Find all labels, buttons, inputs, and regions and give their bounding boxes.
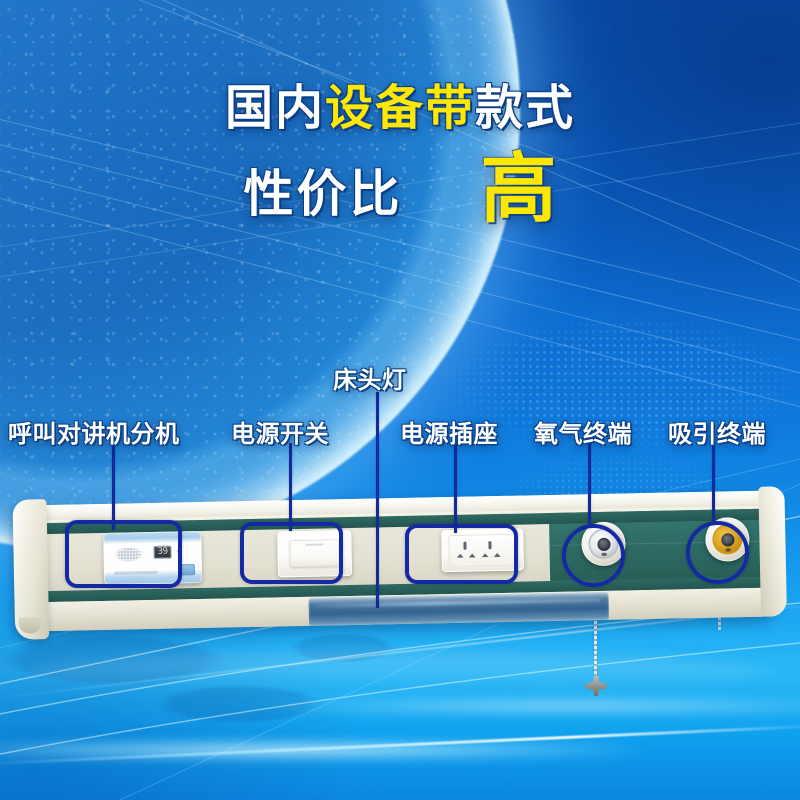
headline-seg-yellow: 设备带	[325, 82, 475, 135]
headline-seg-white-1: 国内	[225, 82, 325, 135]
leader-line-suction-terminal	[712, 443, 715, 525]
promo-banner: 国内设备带款式 性价比 高 呼叫对讲机分机 电源开关 床头灯 电源插座 氧气终端…	[0, 0, 800, 800]
panel-end-cap-left	[12, 499, 49, 640]
headline-emphasis-char: 高	[481, 154, 557, 226]
highlight-marker-oxygen-terminal	[562, 524, 625, 587]
bed-lamp-strip	[309, 592, 610, 628]
callout-label-intercom-extension: 呼叫对讲机分机	[8, 414, 180, 449]
callout-label-oxygen-terminal: 氧气终端	[534, 414, 632, 449]
panel-end-cap-right	[758, 486, 787, 616]
headline-line-1: 国内设备带款式	[0, 82, 800, 136]
highlight-marker-intercom-extension	[65, 520, 182, 588]
headline-block: 国内设备带款式 性价比 高	[0, 82, 800, 136]
leader-line-oxygen-terminal	[588, 443, 591, 528]
intercom-call-button[interactable]	[181, 564, 195, 575]
callout-label-power-socket: 电源插座	[400, 414, 498, 449]
bed-lamp-highlight	[317, 598, 601, 608]
highlight-marker-suction-terminal	[686, 521, 749, 584]
callout-label-power-switch: 电源开关	[231, 414, 329, 449]
leader-line-power-switch	[289, 443, 292, 531]
headline-seg-white-2: 款式	[475, 82, 575, 135]
highlight-marker-power-socket	[405, 524, 518, 584]
callout-label-suction-terminal: 吸引终端	[668, 414, 766, 449]
highlight-marker-power-switch	[240, 522, 343, 584]
headline-subtext: 性价比	[244, 154, 403, 226]
leader-line-intercom-extension	[112, 443, 115, 530]
callout-label-bed-lamp: 床头灯	[333, 360, 407, 395]
leader-line-bed-lamp	[376, 392, 379, 608]
panel-reflection	[30, 652, 770, 692]
headline-line-2: 性价比 高	[0, 154, 800, 226]
leader-line-power-socket	[454, 443, 457, 533]
